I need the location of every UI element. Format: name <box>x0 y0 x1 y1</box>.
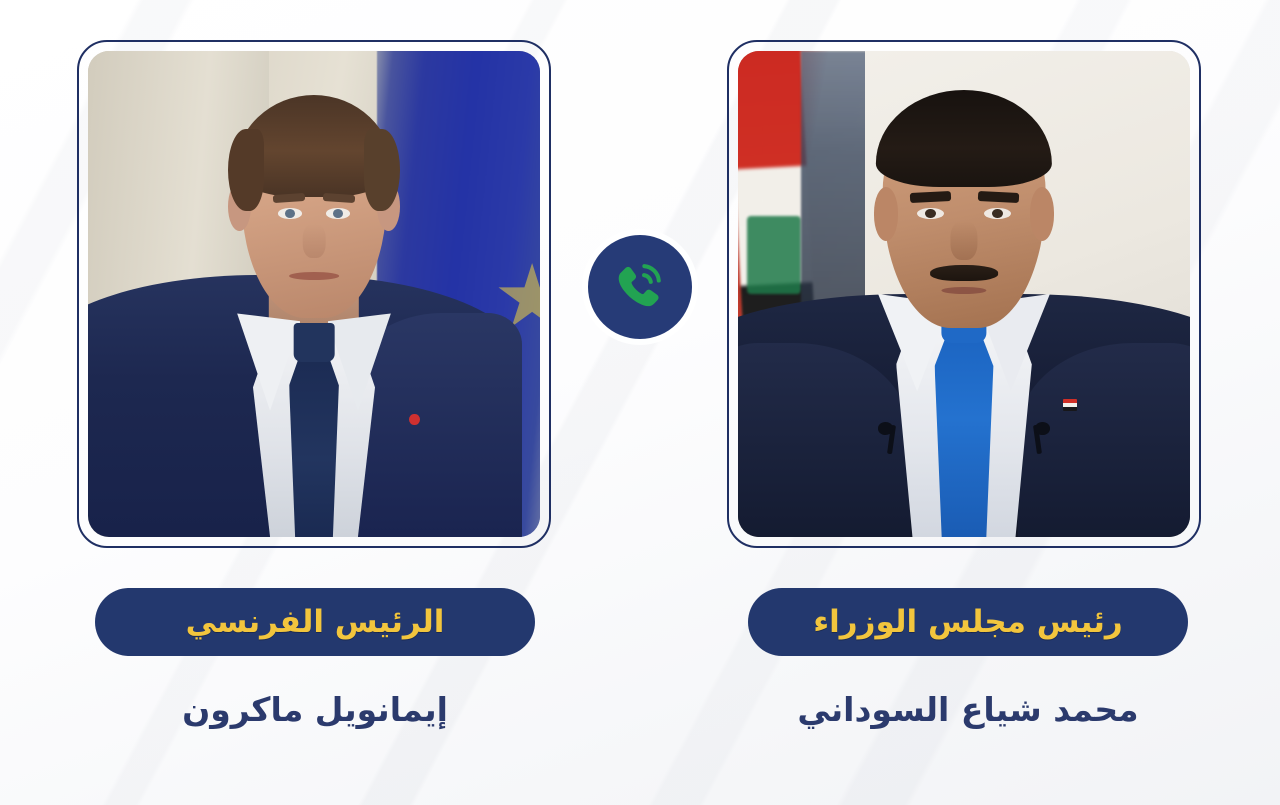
left-person-mouth <box>289 272 339 280</box>
left-person-name: إيمانويل ماكرون <box>182 690 448 729</box>
right-person-title-badge: رئيس مجلس الوزراء <box>748 588 1188 656</box>
right-person-photo-card <box>727 40 1201 548</box>
left-person-hair-side-right <box>364 129 400 212</box>
right-person-nose <box>950 221 977 260</box>
right-photo-bookshelf <box>801 51 873 304</box>
right-person-iris-left <box>925 209 935 218</box>
left-person-nose <box>303 224 326 258</box>
phone-call-icon <box>609 256 671 318</box>
right-person-name: محمد شياع السوداني <box>797 690 1138 729</box>
left-photo-image <box>88 51 540 537</box>
right-photo-image <box>738 51 1190 537</box>
announcement-canvas: الرئيس الفرنسي إيمانويل ماكرون رئيس مجلس… <box>0 0 1280 805</box>
left-person-tie-knot <box>294 323 335 362</box>
iraqi-flag-inscription <box>747 216 801 294</box>
right-person-iris-right <box>992 209 1002 218</box>
right-person-name-block: محمد شياع السوداني <box>748 690 1188 729</box>
right-person-tie <box>935 323 994 537</box>
right-person-microphone-right-icon <box>1035 422 1050 435</box>
right-person-ear-left <box>874 187 899 240</box>
left-person-tie <box>289 343 339 537</box>
left-person-name-block: إيمانويل ماكرون <box>95 690 535 729</box>
right-person-ear-right <box>1030 187 1055 240</box>
phone-call-badge <box>588 235 692 339</box>
left-person-photo-card <box>77 40 551 548</box>
right-person-title: رئيس مجلس الوزراء <box>813 604 1122 640</box>
left-person-title-badge: الرئيس الفرنسي <box>95 588 535 656</box>
right-person-moustache <box>930 265 998 282</box>
left-person-title: الرئيس الفرنسي <box>186 604 445 640</box>
right-person-lapel-pin-icon <box>1063 399 1077 411</box>
left-person-hair-side-left <box>228 129 264 212</box>
